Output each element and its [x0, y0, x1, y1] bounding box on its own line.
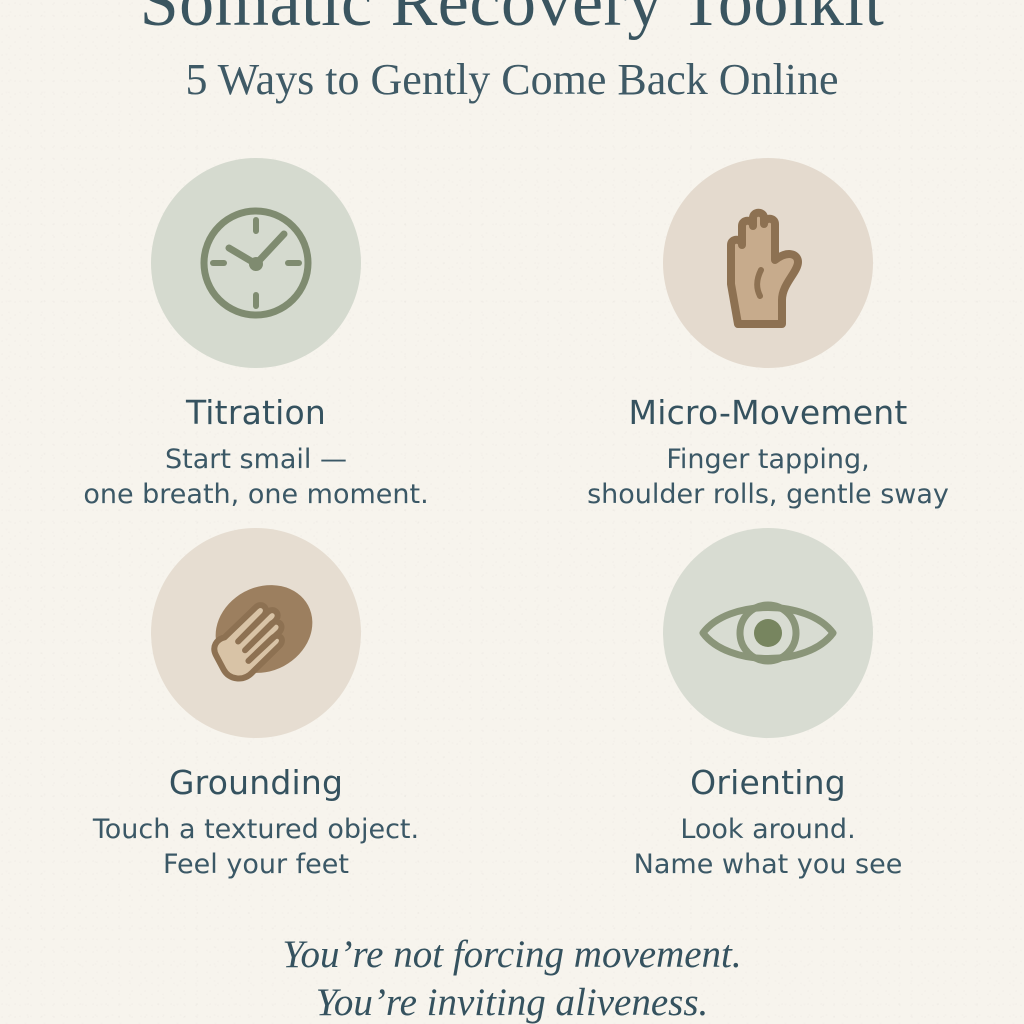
- page-subtitle: 5 Ways to Gently Come Back Online: [0, 54, 1024, 107]
- hand-on-stone-icon: [176, 563, 336, 703]
- card-description-line-1: Look around.: [634, 813, 903, 848]
- poster-header: Somatic Recovery Toolkit 5 Ways to Gentl…: [0, 0, 1024, 107]
- card-title: Orienting: [690, 766, 846, 799]
- eye-icon: [693, 583, 843, 683]
- clock-icon: [191, 198, 321, 328]
- card-description: Start smail — one breath, one moment.: [83, 443, 428, 512]
- footer-line-1: You’re not forcing movement.: [0, 931, 1024, 980]
- card-grounding: Grounding Touch a textured object. Feel …: [0, 528, 512, 898]
- card-orienting: Orienting Look around. Name what you see: [512, 528, 1024, 898]
- card-description-line-1: Start smail —: [83, 443, 428, 478]
- footer-line-2: You’re inviting aliveness.: [0, 979, 1024, 1024]
- card-description-line-2: one breath, one moment.: [83, 478, 428, 513]
- card-title: Titration: [186, 396, 326, 429]
- toolkit-grid: Titration Start smail — one breath, one …: [0, 158, 1024, 898]
- card-description-line-2: Feel your feet: [93, 848, 419, 883]
- page-title: Somatic Recovery Toolkit: [0, 0, 1024, 40]
- open-hand-icon: [698, 188, 838, 338]
- card-description-line-2: Name what you see: [634, 848, 903, 883]
- icon-disc-grounding: [151, 528, 361, 738]
- card-description-line-1: Finger tapping,: [587, 443, 949, 478]
- card-micro-movement: Micro-Movement Finger tapping, shoulder …: [512, 158, 1024, 528]
- icon-disc-orienting: [663, 528, 873, 738]
- card-description-line-1: Touch a textured object.: [93, 813, 419, 848]
- card-description-line-2: shoulder rolls, gentle sway: [587, 478, 949, 513]
- footer-quote: You’re not forcing movement. You’re invi…: [0, 931, 1024, 1024]
- card-description: Touch a textured object. Feel your feet: [93, 813, 419, 882]
- poster-canvas: Somatic Recovery Toolkit 5 Ways to Gentl…: [0, 0, 1024, 1024]
- icon-disc-titration: [151, 158, 361, 368]
- card-description: Finger tapping, shoulder rolls, gentle s…: [587, 443, 949, 512]
- icon-disc-micro-movement: [663, 158, 873, 368]
- card-title: Grounding: [169, 766, 343, 799]
- card-titration: Titration Start smail — one breath, one …: [0, 158, 512, 528]
- card-description: Look around. Name what you see: [634, 813, 903, 882]
- card-title: Micro-Movement: [629, 396, 908, 429]
